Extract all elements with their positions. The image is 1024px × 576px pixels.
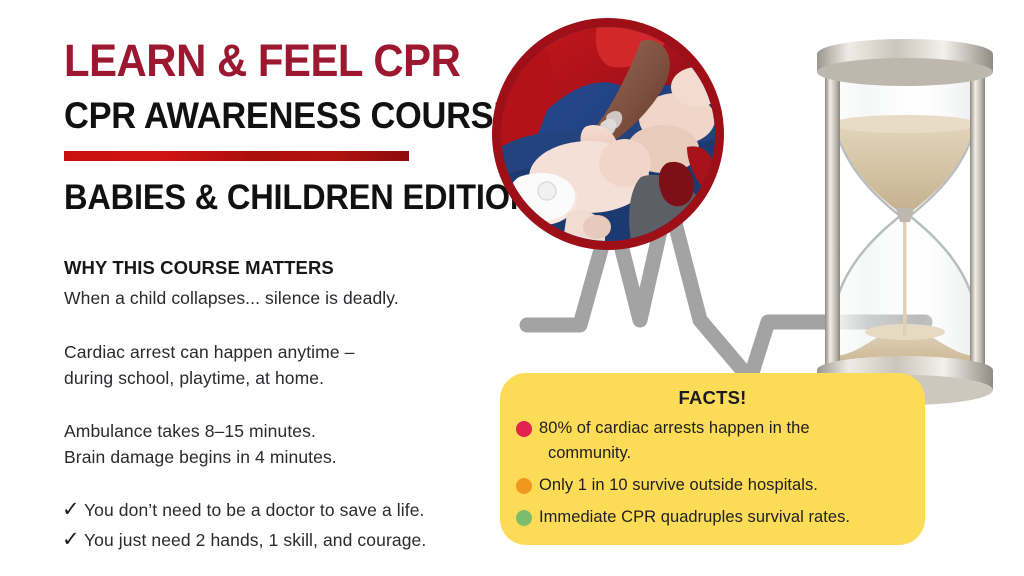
bullet-icon [516, 510, 532, 526]
fact-continuation: community. [548, 441, 909, 466]
list-item-label: You don’t need to be a doctor to save a … [84, 496, 425, 524]
fact-label: 80% of cardiac arrests happen in the [539, 416, 810, 441]
fact-label: Immediate CPR quadruples survival rates. [539, 505, 850, 530]
edition-title: BABIES & CHILDREN EDITION [64, 180, 473, 215]
list-item-label: You just need 2 hands, 1 skill, and cour… [84, 526, 426, 554]
hourglass-illustration [800, 26, 1010, 416]
paragraph-intro: When a child collapses... silence is dea… [64, 285, 399, 311]
facts-title: FACTS! [516, 387, 909, 409]
divider [64, 151, 409, 161]
cpr-awareness-poster: LEARN & FEEL CPR CPR AWARENESS COURSE BA… [0, 0, 1024, 576]
bullet-icon [516, 478, 532, 494]
bullet-icon [516, 421, 532, 437]
list-item: ✓ You don’t need to be a doctor to save … [62, 496, 426, 526]
fact-item: Immediate CPR quadruples survival rates. [516, 505, 909, 530]
subtitle: CPR AWARENESS COURSE [64, 97, 464, 134]
fact-item: Only 1 in 10 survive outside hospitals. [516, 473, 909, 498]
cpr-training-photo [492, 18, 724, 250]
photo-image [501, 27, 715, 241]
check-icon: ✓ [62, 526, 84, 553]
check-icon: ✓ [62, 496, 84, 523]
fact-item: 80% of cardiac arrests happen in the [516, 416, 909, 441]
facts-panel: FACTS! 80% of cardiac arrests happen in … [500, 373, 925, 545]
checklist: ✓ You don’t need to be a doctor to save … [62, 496, 426, 556]
fact-label: Only 1 in 10 survive outside hospitals. [539, 473, 818, 498]
paragraph-anytime: Cardiac arrest can happen anytime – duri… [64, 339, 354, 391]
list-item: ✓ You just need 2 hands, 1 skill, and co… [62, 526, 426, 556]
paragraph-timing: Ambulance takes 8–15 minutes. Brain dama… [64, 418, 337, 470]
section-heading: WHY THIS COURSE MATTERS [64, 257, 334, 279]
page-title: LEARN & FEEL CPR [64, 40, 455, 83]
